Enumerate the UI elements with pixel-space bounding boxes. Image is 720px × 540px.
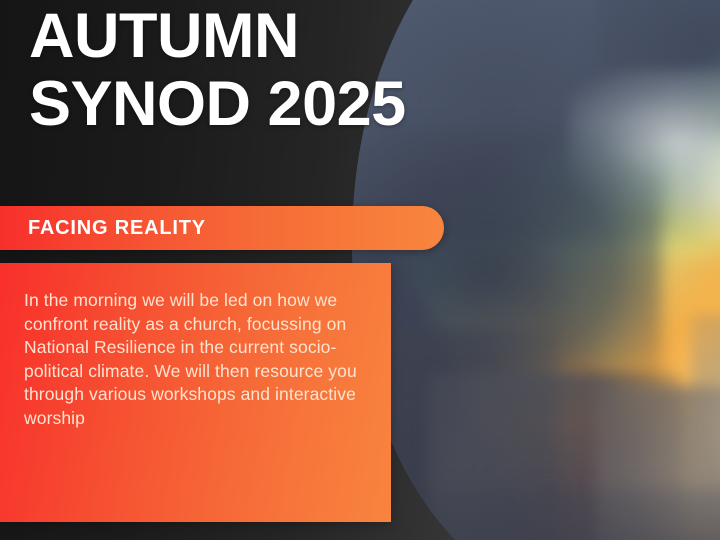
presentation-slide: AUTUMN SYNOD 2025 FACING REALITY In the … [0, 0, 720, 540]
subtitle-banner-label: FACING REALITY [28, 217, 206, 240]
body-text-block: In the morning we will be led on how we … [0, 263, 391, 522]
body-text: In the morning we will be led on how we … [24, 289, 373, 430]
page-title-line-1: AUTUMN [29, 2, 589, 70]
page-title: AUTUMN SYNOD 2025 [29, 2, 589, 138]
subtitle-banner: FACING REALITY [0, 206, 444, 250]
cloud-wisp-secondary [672, 127, 720, 242]
page-title-line-2: SYNOD 2025 [29, 70, 589, 138]
cloud-bottom-shadow [352, 487, 720, 540]
